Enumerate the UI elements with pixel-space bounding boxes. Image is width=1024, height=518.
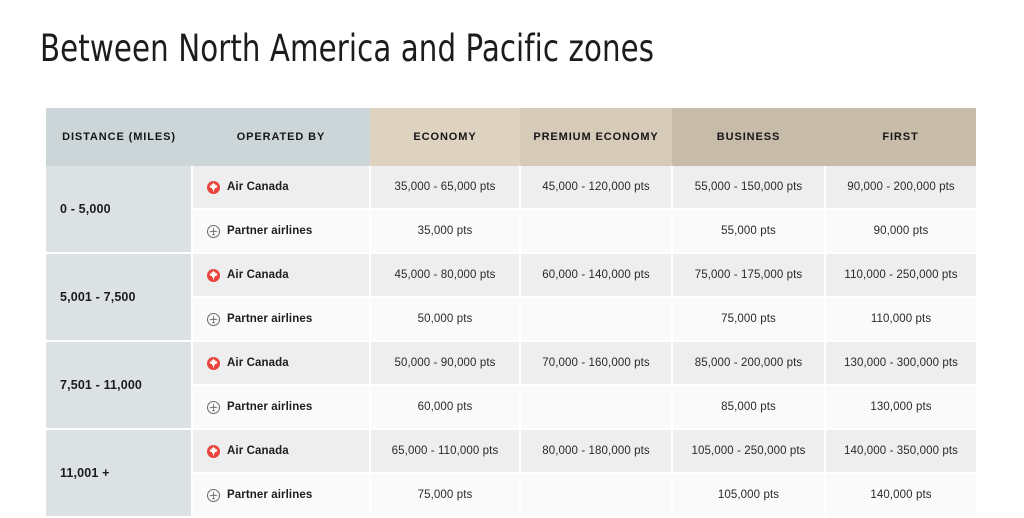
operator-cell-air-canada: Air Canada	[192, 253, 370, 297]
points-cell-economy: 50,000 - 90,000 pts	[370, 341, 520, 385]
operator-label: Partner airlines	[227, 489, 312, 501]
distance-band-cell: 0 - 5,000	[46, 166, 192, 253]
operator-label: Air Canada	[227, 445, 289, 457]
partner-airline-icon	[207, 313, 220, 326]
points-cell-business: 55,000 - 150,000 pts	[672, 166, 825, 209]
table-row: 0 - 5,000Air Canada35,000 - 65,000 pts45…	[46, 166, 976, 209]
column-header-first: FIRST	[825, 108, 976, 166]
points-cell-business: 85,000 pts	[672, 385, 825, 429]
table-row: 5,001 - 7,500Air Canada45,000 - 80,000 p…	[46, 253, 976, 297]
partner-airline-icon	[207, 225, 220, 238]
maple-leaf-roundel-icon	[207, 445, 220, 458]
points-cell-premium	[520, 473, 672, 517]
points-cell-economy: 35,000 pts	[370, 209, 520, 253]
points-cell-first: 140,000 pts	[825, 473, 976, 517]
table-row: 11,001 +Air Canada65,000 - 110,000 pts80…	[46, 429, 976, 473]
table-header: DISTANCE (MILES) OPERATED BY ECONOMY PRE…	[46, 108, 976, 166]
column-header-distance: DISTANCE (MILES)	[46, 108, 192, 166]
points-cell-first: 130,000 pts	[825, 385, 976, 429]
points-cell-premium: 70,000 - 160,000 pts	[520, 341, 672, 385]
points-cell-first: 110,000 pts	[825, 297, 976, 341]
partner-airline-icon	[207, 401, 220, 414]
points-cell-business: 55,000 pts	[672, 209, 825, 253]
table-header-row: DISTANCE (MILES) OPERATED BY ECONOMY PRE…	[46, 108, 976, 166]
points-cell-business: 85,000 - 200,000 pts	[672, 341, 825, 385]
operator-label: Partner airlines	[227, 225, 312, 237]
distance-band-cell: 7,501 - 11,000	[46, 341, 192, 429]
points-cell-first: 110,000 - 250,000 pts	[825, 253, 976, 297]
operator-cell-partner: Partner airlines	[192, 297, 370, 341]
points-cell-business: 75,000 pts	[672, 297, 825, 341]
points-cell-economy: 75,000 pts	[370, 473, 520, 517]
points-cell-premium	[520, 297, 672, 341]
operator-cell-air-canada: Air Canada	[192, 341, 370, 385]
operator-cell-partner: Partner airlines	[192, 385, 370, 429]
maple-leaf-roundel-icon	[207, 269, 220, 282]
maple-leaf-roundel-icon	[207, 181, 220, 194]
points-cell-economy: 35,000 - 65,000 pts	[370, 166, 520, 209]
points-cell-first: 130,000 - 300,000 pts	[825, 341, 976, 385]
points-cell-business: 105,000 - 250,000 pts	[672, 429, 825, 473]
points-cell-premium: 80,000 - 180,000 pts	[520, 429, 672, 473]
column-header-business: BUSINESS	[672, 108, 825, 166]
points-cell-premium: 60,000 - 140,000 pts	[520, 253, 672, 297]
points-cell-premium: 45,000 - 120,000 pts	[520, 166, 672, 209]
points-cell-business: 75,000 - 175,000 pts	[672, 253, 825, 297]
operator-cell-partner: Partner airlines	[192, 473, 370, 517]
operator-label: Air Canada	[227, 269, 289, 281]
operator-cell-air-canada: Air Canada	[192, 429, 370, 473]
operator-cell-air-canada: Air Canada	[192, 166, 370, 209]
operator-label: Partner airlines	[227, 313, 312, 325]
points-cell-premium	[520, 209, 672, 253]
distance-band-cell: 11,001 +	[46, 429, 192, 517]
table-body: 0 - 5,000Air Canada35,000 - 65,000 pts45…	[46, 166, 976, 517]
points-cell-premium	[520, 385, 672, 429]
column-header-premium-economy: PREMIUM ECONOMY	[520, 108, 672, 166]
points-cell-economy: 45,000 - 80,000 pts	[370, 253, 520, 297]
award-chart-table: DISTANCE (MILES) OPERATED BY ECONOMY PRE…	[46, 108, 976, 518]
operator-label: Air Canada	[227, 357, 289, 369]
operator-label: Air Canada	[227, 181, 289, 193]
points-cell-economy: 65,000 - 110,000 pts	[370, 429, 520, 473]
column-header-economy: ECONOMY	[370, 108, 520, 166]
points-cell-economy: 60,000 pts	[370, 385, 520, 429]
page-title: Between North America and Pacific zones	[40, 27, 654, 70]
column-header-operated-by: OPERATED BY	[192, 108, 370, 166]
points-cell-business: 105,000 pts	[672, 473, 825, 517]
points-cell-first: 90,000 pts	[825, 209, 976, 253]
partner-airline-icon	[207, 489, 220, 502]
operator-cell-partner: Partner airlines	[192, 209, 370, 253]
points-cell-first: 90,000 - 200,000 pts	[825, 166, 976, 209]
points-cell-economy: 50,000 pts	[370, 297, 520, 341]
table-row: 7,501 - 11,000Air Canada50,000 - 90,000 …	[46, 341, 976, 385]
operator-label: Partner airlines	[227, 401, 312, 413]
maple-leaf-roundel-icon	[207, 357, 220, 370]
distance-band-cell: 5,001 - 7,500	[46, 253, 192, 341]
points-cell-first: 140,000 - 350,000 pts	[825, 429, 976, 473]
